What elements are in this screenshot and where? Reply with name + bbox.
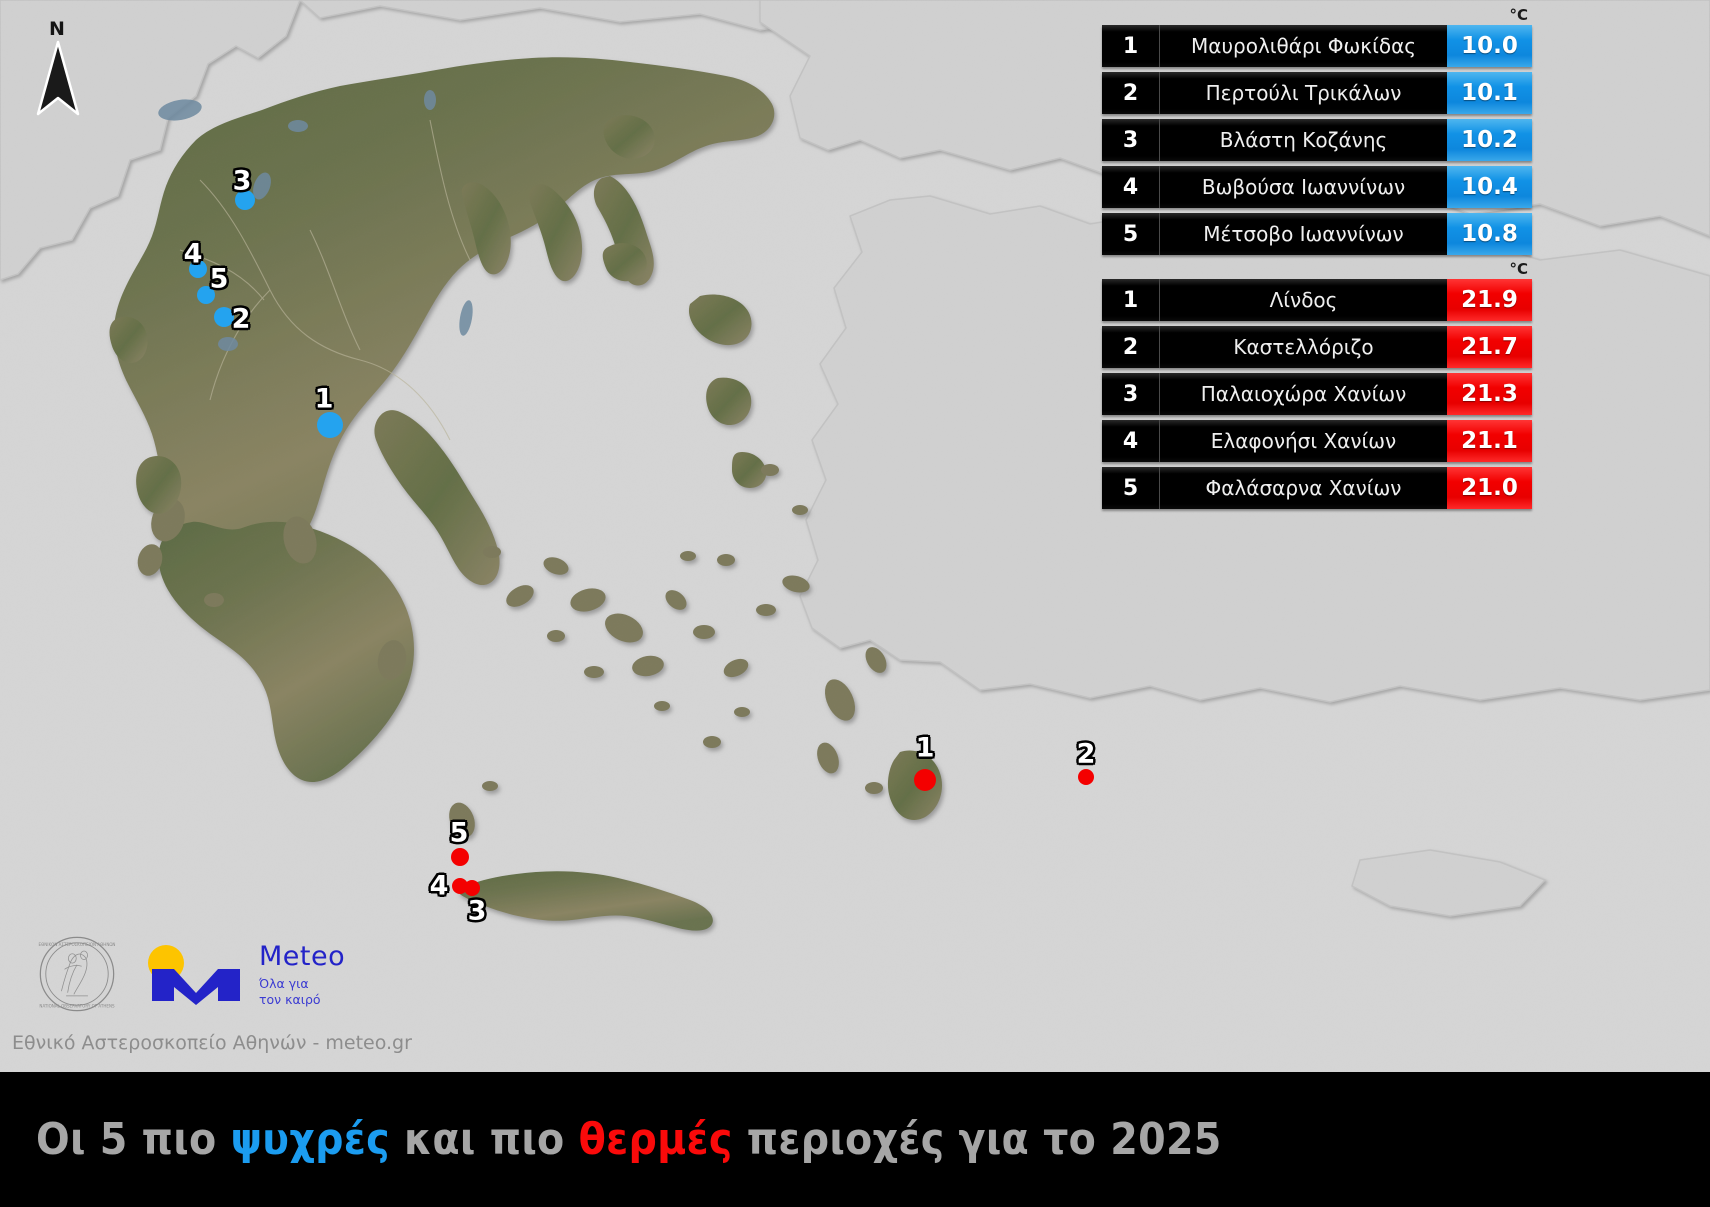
station-row[interactable]: 5Φαλάσαρνα Χανίων21.0 — [1102, 467, 1532, 509]
station-name: Φαλάσαρνα Χανίων — [1160, 467, 1447, 509]
station-row[interactable]: 4Ελαφονήσι Χανίων21.1 — [1102, 420, 1532, 462]
station-row[interactable]: 2Καστελλόριζο21.7 — [1102, 326, 1532, 368]
hot-station-marker[interactable] — [451, 848, 469, 866]
title-part-2: και πιο — [390, 1114, 579, 1165]
station-rank: 4 — [1102, 420, 1160, 462]
station-name: Παλαιοχώρα Χανίων — [1160, 373, 1447, 415]
station-rank: 4 — [1102, 166, 1160, 208]
marker-label: 3 — [468, 898, 487, 925]
title-cold-word: ψυχρές — [231, 1114, 390, 1165]
station-name: Βωβούσα Ιωαννίνων — [1160, 166, 1447, 208]
station-rank: 5 — [1102, 213, 1160, 255]
station-temperature: 10.4 — [1447, 166, 1532, 208]
infographic-root: N 1234512345 °C 1Μαυρολιθάρι Φωκίδας10.0… — [0, 0, 1710, 1207]
station-row[interactable]: 3Παλαιοχώρα Χανίων21.3 — [1102, 373, 1532, 415]
hot-station-marker[interactable] — [1078, 769, 1094, 785]
hot-station-marker[interactable] — [452, 878, 468, 894]
station-row[interactable]: 1Μαυρολιθάρι Φωκίδας10.0 — [1102, 25, 1532, 67]
branding-logos: ΕΘΝΙΚΟΝ ΑΣΤΕΡΟΣΚΟΠΕΙΟΝ ΑΘΗΝΩΝ NATIONAL O… — [38, 930, 345, 1018]
station-rank: 3 — [1102, 119, 1160, 161]
meteo-mark-icon — [144, 943, 249, 1005]
station-rank: 1 — [1102, 279, 1160, 321]
marker-label: 3 — [233, 168, 252, 195]
cold-rows: 1Μαυρολιθάρι Φωκίδας10.02Περτούλι Τρικάλ… — [1102, 25, 1532, 255]
station-name: Καστελλόριζο — [1160, 326, 1447, 368]
north-arrow-icon — [36, 40, 80, 118]
station-name: Μέτσοβο Ιωαννίνων — [1160, 213, 1447, 255]
north-label: N — [28, 18, 86, 40]
cold-unit-label: °C — [1102, 8, 1532, 22]
meteo-tagline-line1: Όλα για — [259, 976, 345, 992]
station-name: Βλάστη Κοζάνης — [1160, 119, 1447, 161]
station-temperature: 21.9 — [1447, 279, 1532, 321]
marker-label: 4 — [184, 241, 203, 268]
noa-seal-icon: ΕΘΝΙΚΟΝ ΑΣΤΕΡΟΣΚΟΠΕΙΟΝ ΑΘΗΝΩΝ NATIONAL O… — [38, 935, 116, 1013]
title-hot-word: θερμές — [579, 1114, 733, 1165]
credit-text: Εθνικό Αστεροσκοπείο Αθηνών - meteo.gr — [12, 1032, 412, 1054]
warmest-stations-panel: °C 1Λίνδος21.92Καστελλόριζο21.73Παλαιοχώ… — [1102, 262, 1532, 514]
north-arrow: N — [28, 18, 86, 118]
station-name: Περτούλι Τρικάλων — [1160, 72, 1447, 114]
marker-label: 2 — [1077, 741, 1096, 768]
marker-label: 2 — [232, 306, 251, 333]
meteo-tagline-line2: τον καιρό — [259, 992, 345, 1008]
station-temperature: 21.7 — [1447, 326, 1532, 368]
station-temperature: 21.3 — [1447, 373, 1532, 415]
marker-label: 4 — [430, 873, 449, 900]
station-temperature: 10.0 — [1447, 25, 1532, 67]
station-row[interactable]: 5Μέτσοβο Ιωαννίνων10.8 — [1102, 213, 1532, 255]
hot-unit-label: °C — [1102, 262, 1532, 276]
station-name: Λίνδος — [1160, 279, 1447, 321]
station-row[interactable]: 4Βωβούσα Ιωαννίνων10.4 — [1102, 166, 1532, 208]
page-title: Οι 5 πιο ψυχρές και πιο θερμές περιοχές … — [0, 1114, 1222, 1165]
station-row[interactable]: 2Περτούλι Τρικάλων10.1 — [1102, 72, 1532, 114]
cold-station-marker[interactable] — [317, 412, 343, 438]
svg-text:NATIONAL OBSERVATORY OF ATHENS: NATIONAL OBSERVATORY OF ATHENS — [39, 1004, 115, 1009]
station-rank: 2 — [1102, 326, 1160, 368]
hot-station-marker[interactable] — [914, 769, 936, 791]
station-rank: 3 — [1102, 373, 1160, 415]
station-rank: 5 — [1102, 467, 1160, 509]
station-rank: 1 — [1102, 25, 1160, 67]
station-row[interactable]: 1Λίνδος21.9 — [1102, 279, 1532, 321]
station-temperature: 10.1 — [1447, 72, 1532, 114]
title-bar: Οι 5 πιο ψυχρές και πιο θερμές περιοχές … — [0, 1072, 1710, 1207]
marker-label: 5 — [210, 266, 229, 293]
station-temperature: 10.8 — [1447, 213, 1532, 255]
station-name: Μαυρολιθάρι Φωκίδας — [1160, 25, 1447, 67]
marker-label: 1 — [315, 386, 334, 413]
svg-text:ΕΘΝΙΚΟΝ ΑΣΤΕΡΟΣΚΟΠΕΙΟΝ ΑΘΗΝΩΝ: ΕΘΝΙΚΟΝ ΑΣΤΕΡΟΣΚΟΠΕΙΟΝ ΑΘΗΝΩΝ — [39, 942, 116, 947]
station-temperature: 10.2 — [1447, 119, 1532, 161]
station-rank: 2 — [1102, 72, 1160, 114]
station-row[interactable]: 3Βλάστη Κοζάνης10.2 — [1102, 119, 1532, 161]
station-temperature: 21.0 — [1447, 467, 1532, 509]
station-temperature: 21.1 — [1447, 420, 1532, 462]
hot-rows: 1Λίνδος21.92Καστελλόριζο21.73Παλαιοχώρα … — [1102, 279, 1532, 509]
marker-label: 1 — [916, 735, 935, 762]
marker-label: 5 — [450, 820, 469, 847]
station-name: Ελαφονήσι Χανίων — [1160, 420, 1447, 462]
title-part-1: Οι 5 πιο — [36, 1114, 231, 1165]
title-part-3: περιοχές για το 2025 — [733, 1114, 1222, 1165]
meteo-wordmark: Meteo — [259, 941, 345, 972]
meteo-logo: Meteo Όλα για τον καιρό — [144, 941, 345, 1007]
coldest-stations-panel: °C 1Μαυρολιθάρι Φωκίδας10.02Περτούλι Τρι… — [1102, 8, 1532, 260]
